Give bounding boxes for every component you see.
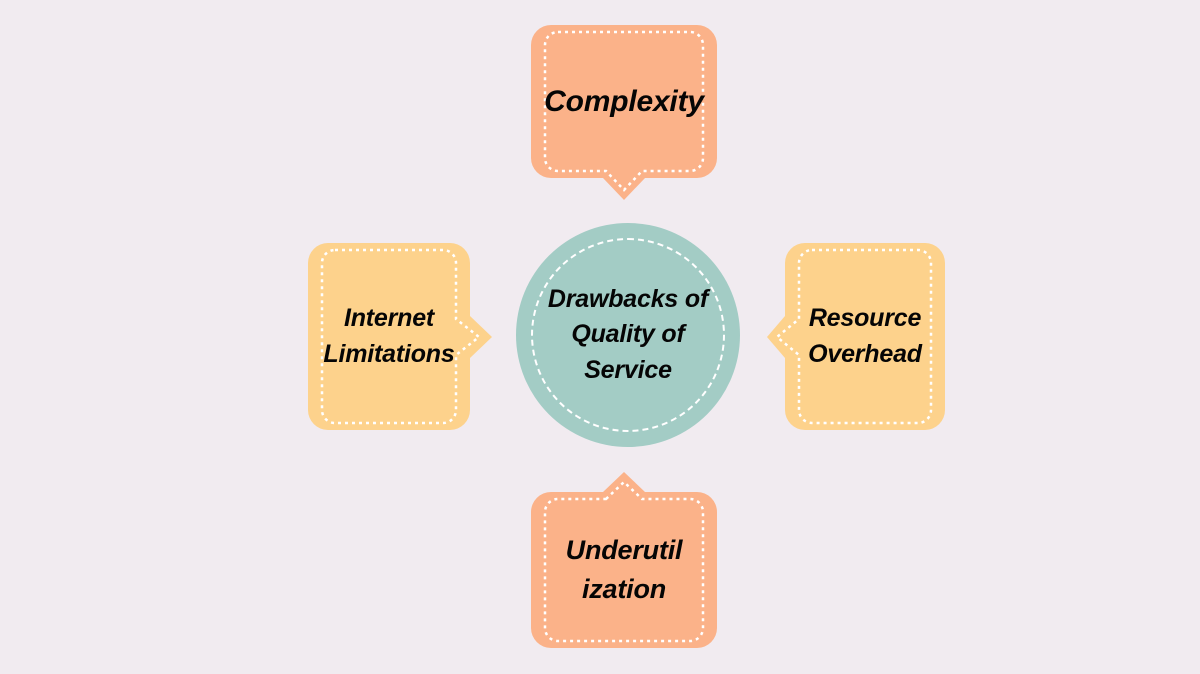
hub-label: Drawbacks of Quality of Service xyxy=(516,223,740,447)
hub-node[interactable]: Drawbacks of Quality of Service xyxy=(516,223,740,447)
callout-underutilization-label: Underutil ization xyxy=(531,492,717,648)
callout-complexity-label: Complexity xyxy=(531,25,717,178)
callout-underutilization[interactable]: Underutil ization xyxy=(531,472,717,648)
callout-internet-limitations-label: Internet Limitations xyxy=(308,243,470,430)
callout-resource-overhead-label: Resource Overhead xyxy=(785,243,945,430)
diagram-canvas: Complexity Internet Limitations Resource… xyxy=(0,0,1200,674)
callout-internet-limitations[interactable]: Internet Limitations xyxy=(308,243,492,430)
callout-resource-overhead[interactable]: Resource Overhead xyxy=(767,243,945,430)
callout-complexity[interactable]: Complexity xyxy=(531,25,717,200)
